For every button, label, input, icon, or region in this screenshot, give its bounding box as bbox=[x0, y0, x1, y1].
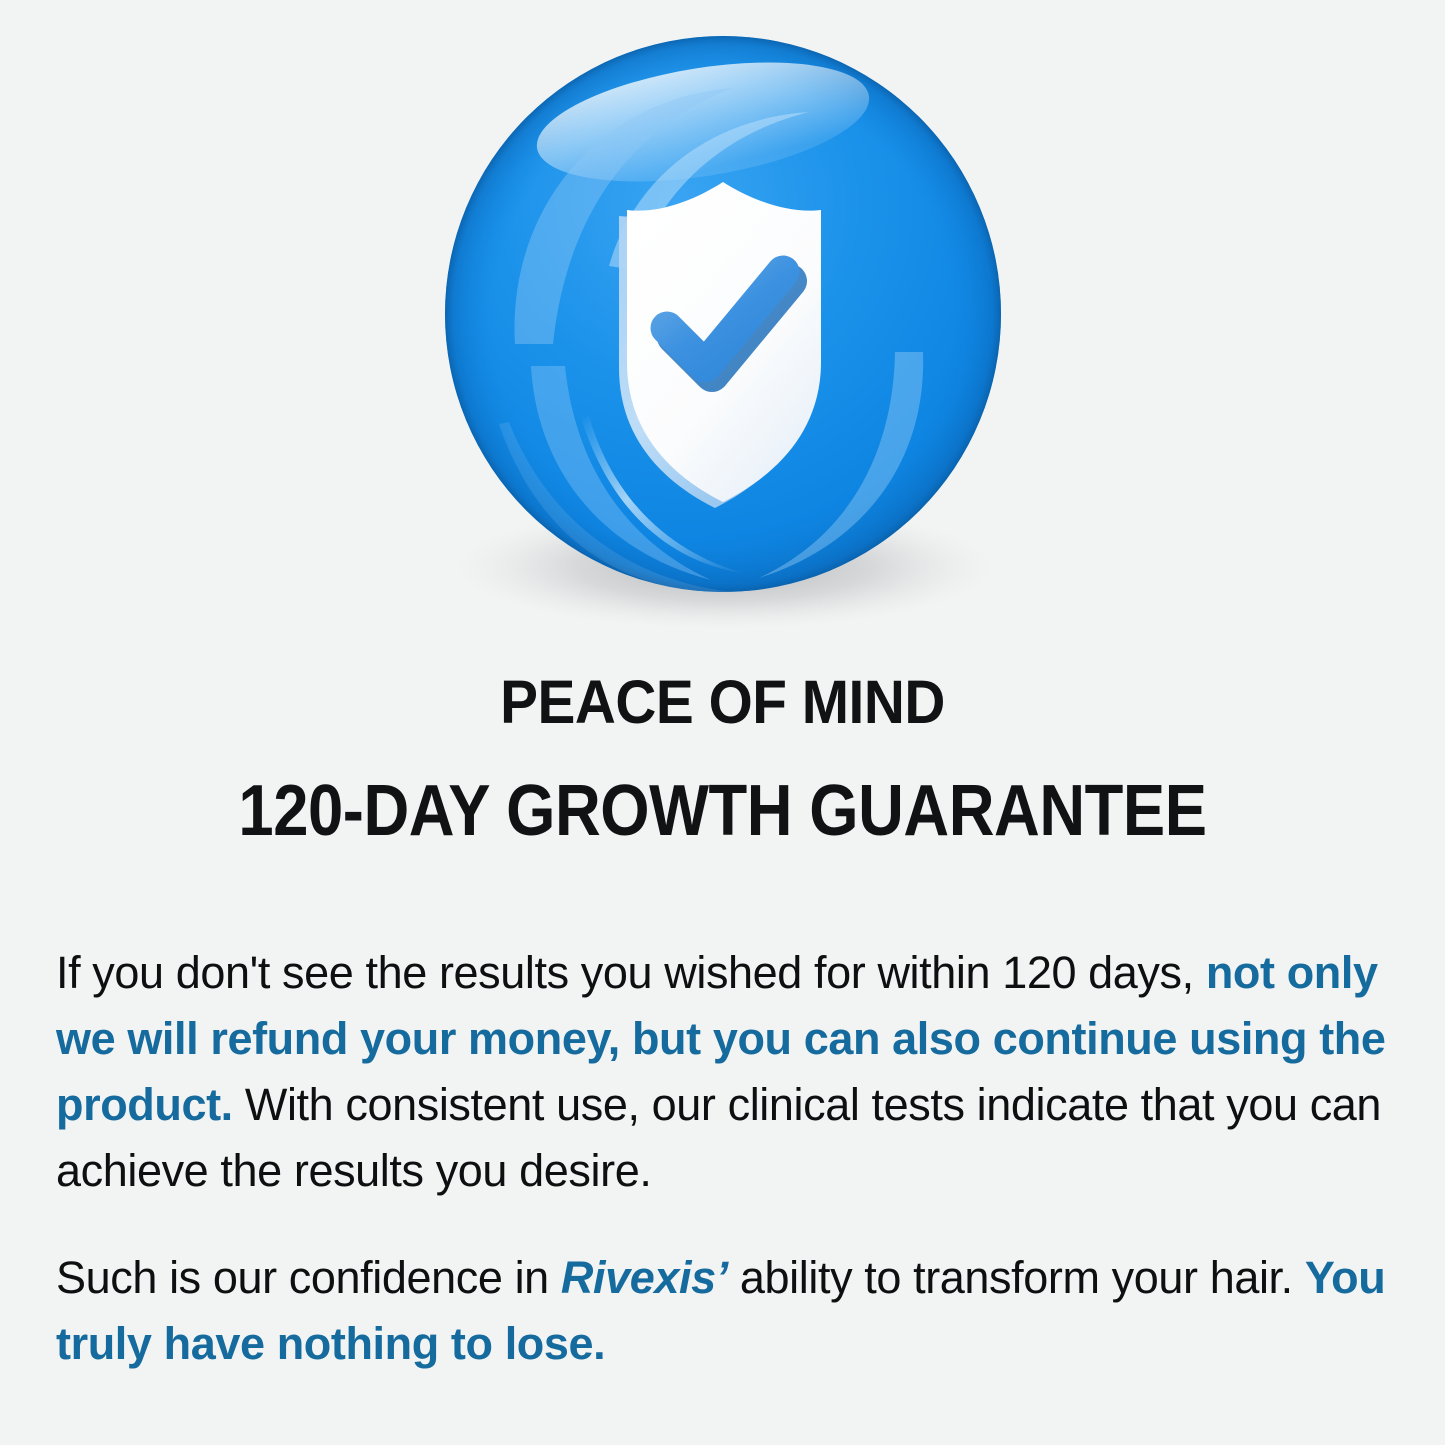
paragraph-confidence: Such is our confidence in Rivexis’ abili… bbox=[56, 1245, 1401, 1377]
para1-segment-3: With consistent use, our clinical tests … bbox=[56, 1079, 1381, 1196]
para1-segment-1: If you don't see the results you wished … bbox=[56, 947, 1206, 998]
para2-segment-1: Such is our confidence in bbox=[56, 1252, 561, 1303]
headline-peace-of-mind: PEACE OF MIND bbox=[51, 672, 1395, 733]
body-copy-block: If you don't see the results you wished … bbox=[56, 940, 1401, 1377]
guarantee-panel: PEACE OF MIND 120-DAY GROWTH GUARANTEE I… bbox=[0, 0, 1445, 1445]
badge-container bbox=[0, 0, 1445, 660]
shield-check-badge-3d-icon bbox=[403, 14, 1043, 654]
headline-guarantee: 120-DAY GROWTH GUARANTEE bbox=[87, 775, 1359, 847]
heading-block: PEACE OF MIND 120-DAY GROWTH GUARANTEE bbox=[0, 672, 1445, 847]
paragraph-guarantee-terms: If you don't see the results you wished … bbox=[56, 940, 1401, 1205]
para2-segment-3: ability to transform your hair. bbox=[728, 1252, 1305, 1303]
brand-name-rivexis: Rivexis’ bbox=[561, 1252, 728, 1303]
